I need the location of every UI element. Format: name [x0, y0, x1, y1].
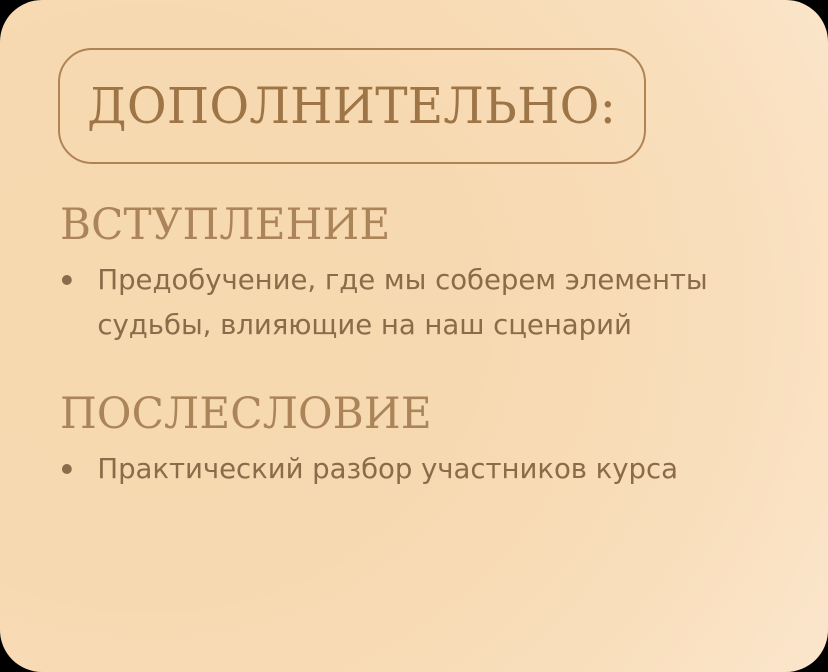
section-intro: ВСТУПЛЕНИЕ Предобучение, где мы соберем … — [58, 200, 770, 347]
bullet-dot-icon — [62, 464, 72, 474]
list-item: Практический разбор участников курса — [58, 446, 759, 491]
section-heading-afterword: ПОСЛЕСЛОВИЕ — [60, 389, 756, 440]
section-afterword: ПОСЛЕСЛОВИЕ Практический разбор участник… — [58, 389, 770, 491]
slide-card: ДОПОЛНИТЕЛЬНО: ВСТУПЛЕНИЕ Предобучение, … — [0, 0, 828, 672]
page-title: ДОПОЛНИТЕЛЬНО: — [87, 81, 616, 131]
bullet-list-afterword: Практический разбор участников курса — [58, 446, 770, 491]
section-heading-intro: ВСТУПЛЕНИЕ — [60, 200, 756, 251]
content-area: ВСТУПЛЕНИЕ Предобучение, где мы соберем … — [58, 200, 770, 492]
list-item-text: Предобучение, где мы соберем элементы су… — [97, 263, 707, 341]
list-item: Предобучение, где мы соберем элементы су… — [58, 257, 759, 348]
list-item-text: Практический разбор участников курса — [97, 452, 678, 485]
bullet-dot-icon — [62, 275, 72, 285]
bullet-list-intro: Предобучение, где мы соберем элементы су… — [58, 257, 770, 348]
header-title-box: ДОПОЛНИТЕЛЬНО: — [58, 48, 646, 164]
